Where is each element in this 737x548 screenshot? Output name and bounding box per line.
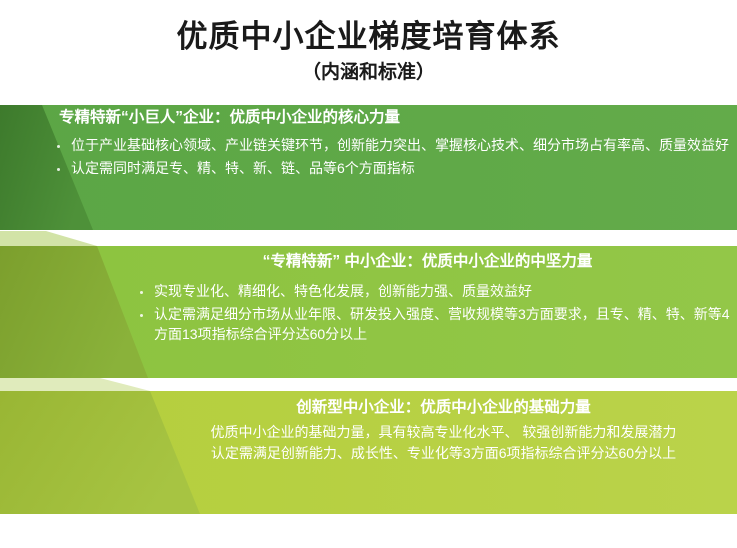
tier-2-bullet-1: 实现专业化、精细化、特色化发展，创新能力强、质量效益好: [138, 282, 735, 302]
tier-3-content: 创新型中小企业：优质中小企业的基础力量 优质中小企业的基础力量，具有较高专业化水…: [150, 398, 737, 464]
tier-2-bullet-list: 实现专业化、精细化、特色化发展，创新能力强、质量效益好 认定需满足细分市场从业年…: [138, 282, 735, 345]
tier-1-heading: 专精特新“小巨人”企业：优质中小企业的核心力量: [59, 108, 735, 128]
page-subtitle: （内涵和标准）: [0, 55, 737, 85]
tier-1-bullet-list: 位于产业基础核心领域、产业链关键环节，创新能力突出、掌握核心技术、细分市场占有率…: [55, 136, 735, 179]
tier-2-bullet-2: 认定需满足细分市场从业年限、研发投入强度、营收规模等3方面要求，且专、精、特、新…: [138, 305, 735, 345]
title-block: 优质中小企业梯度培育体系 （内涵和标准）: [0, 0, 737, 85]
tier-1-bullet-2: 认定需同时满足专、精、特、新、链、品等6个方面指标: [55, 159, 735, 179]
tier-2-content: “专精特新” 中小企业：优质中小企业的中坚力量 实现专业化、精细化、特色化发展，…: [110, 252, 735, 345]
tier-1-content: 专精特新“小巨人”企业：优质中小企业的核心力量 位于产业基础核心领域、产业链关键…: [55, 108, 735, 179]
pyramid-diagram: 专精特新“小巨人”企业：优质中小企业的核心力量 位于产业基础核心领域、产业链关键…: [0, 100, 737, 548]
tier-3-heading: 创新型中小企业：优质中小企业的基础力量: [150, 398, 737, 418]
tier-2-heading: “专精特新” 中小企业：优质中小企业的中坚力量: [120, 252, 735, 272]
tier-3-line-2: 认定需满足创新能力、成长性、专业化等3方面6项指标综合评分达60分以上: [150, 443, 737, 464]
tier-3-line-1: 优质中小企业的基础力量，具有较高专业化水平、 较强创新能力和发展潜力: [150, 422, 737, 443]
tier-1-bullet-1: 位于产业基础核心领域、产业链关键环节，创新能力突出、掌握核心技术、细分市场占有率…: [55, 136, 735, 156]
page-title: 优质中小企业梯度培育体系: [0, 0, 737, 55]
